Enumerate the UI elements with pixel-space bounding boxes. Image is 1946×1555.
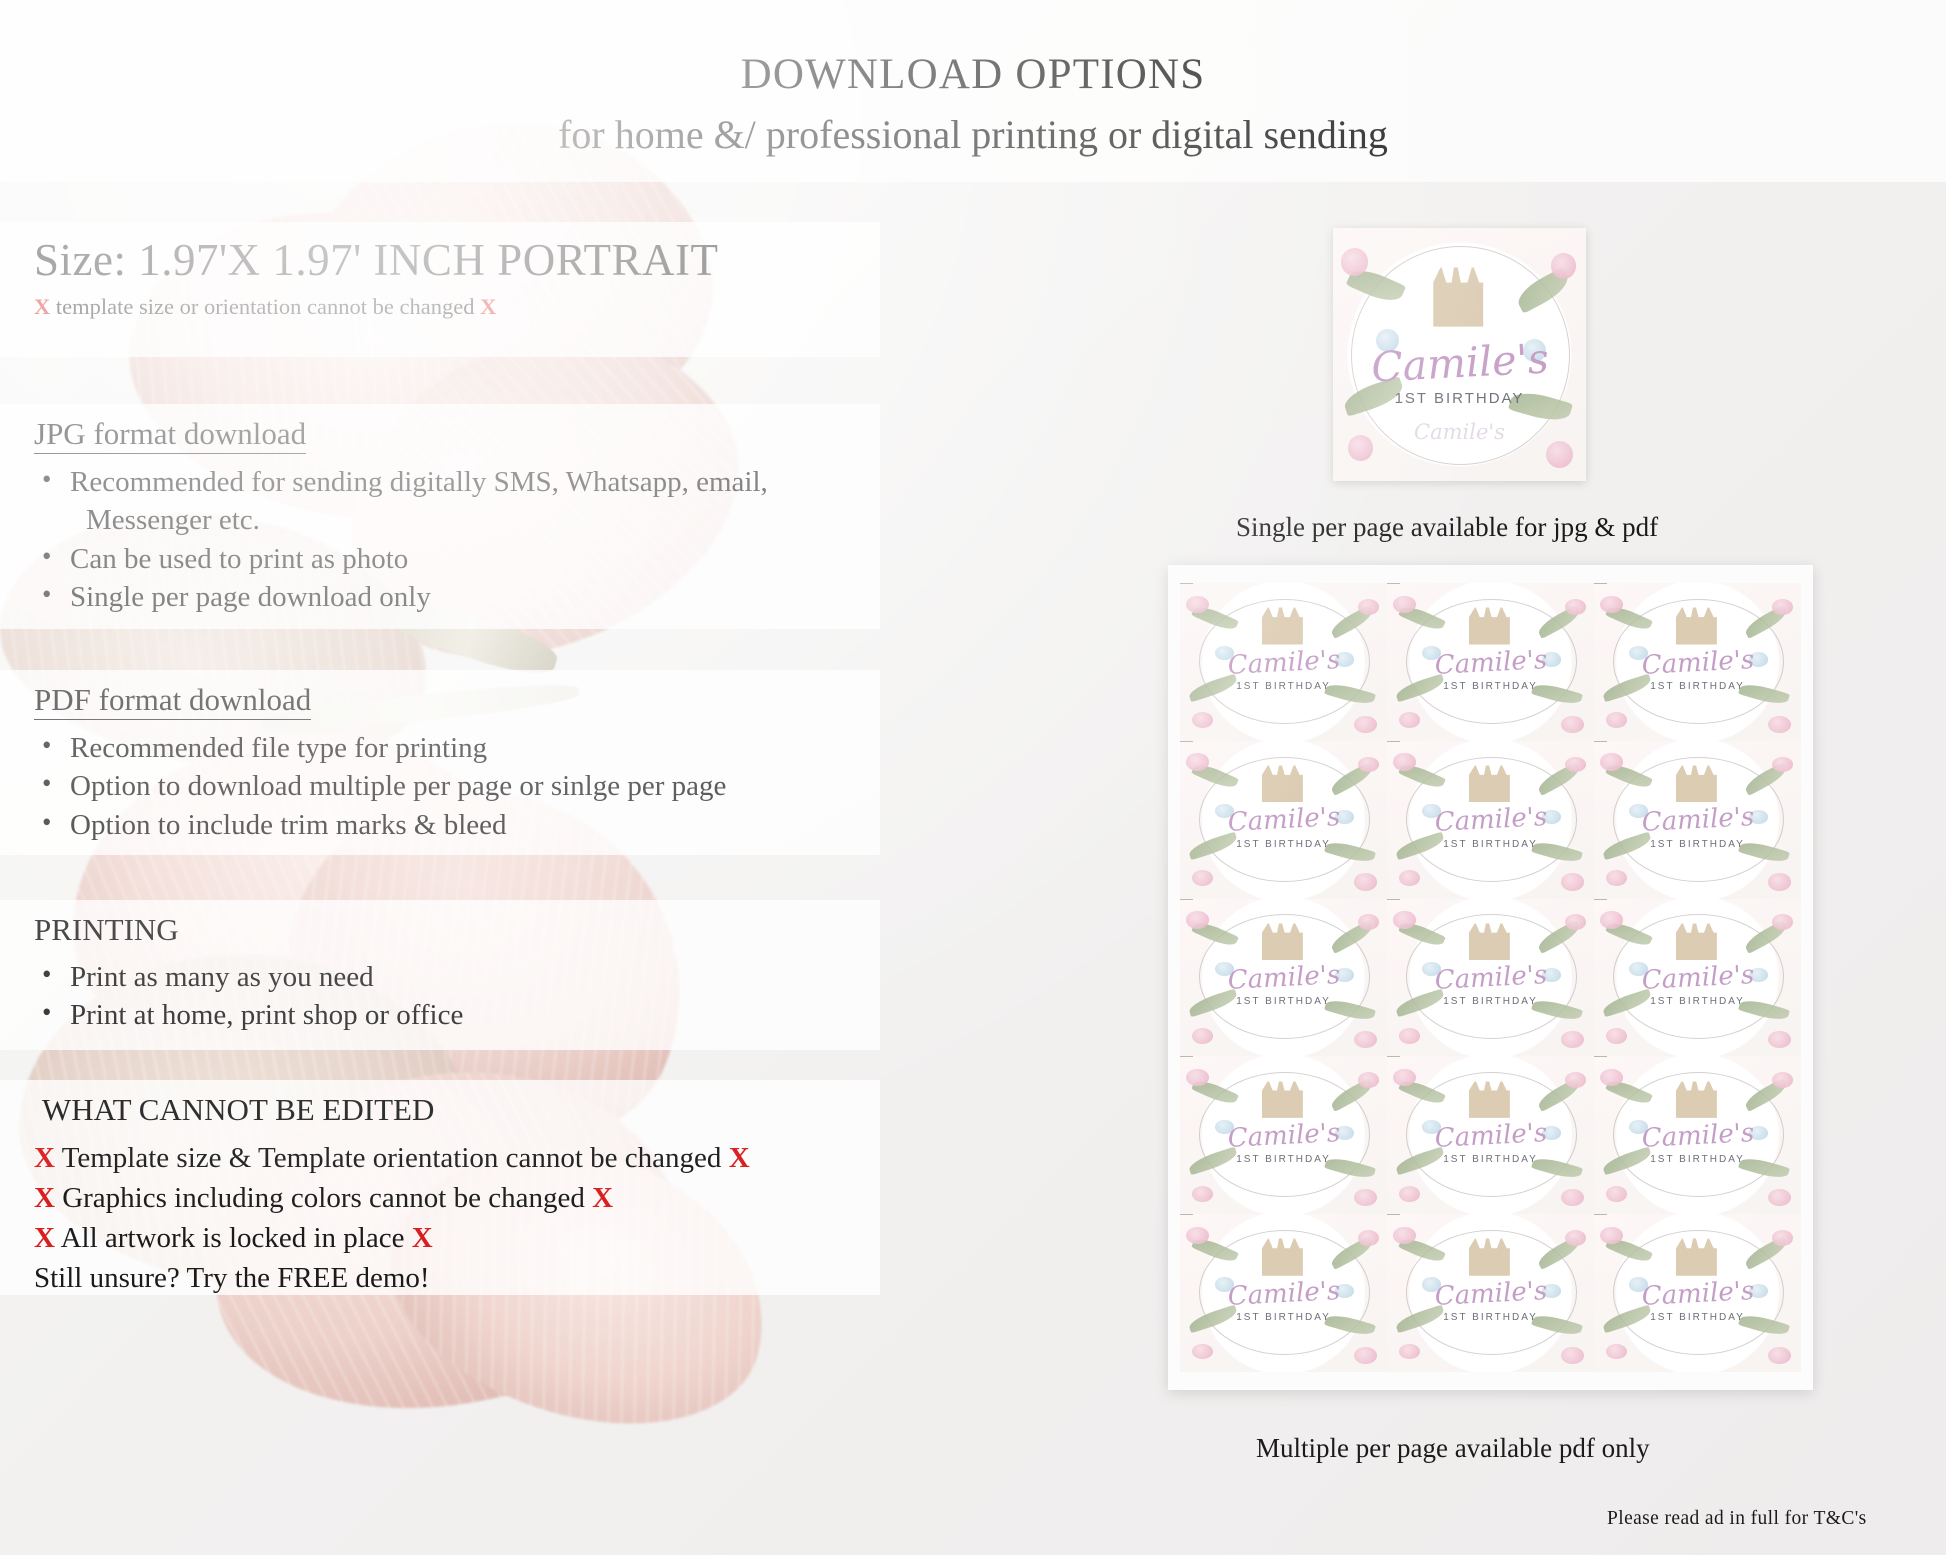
flower-icon [1772,1072,1793,1088]
list-item: Can be used to print as photo [34,540,854,578]
sticker-subtitle: 1ST BIRTHDAY [1650,996,1745,1007]
flower-icon [1565,599,1586,615]
sticker-subtitle: 1ST BIRTHDAY [1650,839,1745,850]
flower-icon [1399,1186,1420,1202]
sticker-name: Camile's [1227,960,1341,996]
page-title: DOWNLOAD OPTIONS [0,0,1946,99]
flower-icon [1192,1344,1213,1360]
sticker-subtitle: 1ST BIRTHDAY [1236,681,1331,692]
flower-icon [1606,1028,1627,1044]
flower-icon [1393,1227,1416,1244]
flower-icon [1600,1227,1623,1244]
sticker-name: Camile's [1641,960,1755,996]
flower-icon [1354,1031,1377,1048]
sticker-name: Camile's [1434,960,1548,996]
flower-icon [1768,1189,1791,1206]
sticker-artwork: Camile's 1ST BIRTHDAY Camile's [1594,583,1801,741]
list-item: Messenger etc. [34,501,854,539]
flower-icon [1561,716,1584,733]
sticker-name-faded: Camile's [1414,420,1505,444]
cannot-edit-section: WHAT CANNOT BE EDITED X Template size & … [0,1080,880,1295]
sticker-artwork: Camile's 1ST BIRTHDAY Camile's [1180,1214,1387,1372]
cannot-edit-line-text: Still unsure? Try the FREE demo! [34,1262,430,1294]
sticker-grid-cell: Camile's 1ST BIRTHDAY Camile's [1594,1214,1801,1372]
sticker-name: Camile's [1434,645,1548,681]
sticker-artwork: Camile's 1ST BIRTHDAY Camile's [1594,1056,1801,1214]
flower-icon [1772,599,1793,615]
cannot-edit-line: X Graphics including colors cannot be ch… [34,1178,854,1218]
sticker-name: Camile's [1227,1276,1341,1312]
sticker-subtitle: 1ST BIRTHDAY [1650,1312,1745,1323]
flower-icon [1186,911,1209,928]
sticker-grid-cell: Camile's 1ST BIRTHDAY Camile's [1180,899,1387,1057]
sticker-name: Camile's [1641,645,1755,681]
flower-icon [1565,757,1586,773]
jpg-section-list: Recommended for sending digitally SMS, W… [34,463,854,616]
flower-icon [1768,1347,1791,1364]
sticker-subtitle: 1ST BIRTHDAY [1443,1154,1538,1165]
cannot-edit-line: Still unsure? Try the FREE demo! [34,1258,854,1298]
x-marker: X [412,1222,433,1254]
printing-section-list: Print as many as you need Print at home,… [34,958,854,1035]
sticker-subtitle: 1ST BIRTHDAY [1236,1154,1331,1165]
flower-icon [1354,873,1377,890]
sticker-grid-cell: Camile's 1ST BIRTHDAY Camile's [1387,1214,1594,1372]
single-per-page-caption: Single per page available for jpg & pdf [1236,512,1658,543]
sticker-artwork: Camile's 1ST BIRTHDAY Camile's [1180,899,1387,1057]
sticker-subtitle: 1ST BIRTHDAY [1443,1312,1538,1323]
flower-icon [1772,757,1793,773]
flower-icon [1565,1072,1586,1088]
flower-icon [1561,1189,1584,1206]
flower-icon [1192,712,1213,728]
sticker-artwork: Camile's 1ST BIRTHDAY Camile's [1180,741,1387,899]
flower-icon [1358,914,1379,930]
flower-icon [1192,1186,1213,1202]
cannot-edit-line-text: All artwork is locked in place [61,1222,405,1254]
sticker-name: Camile's [1641,1276,1755,1312]
sticker-name: Camile's [1227,1118,1341,1154]
sticker-name: Camile's [1370,335,1550,392]
sticker-artwork: Camile's 1ST BIRTHDAY Camile's [1594,899,1801,1057]
size-note-text: template size or orientation cannot be c… [56,294,475,319]
flower-icon [1600,753,1623,770]
printing-section: PRINTING Print as many as you need Print… [0,900,880,1050]
sticker-grid-cell: Camile's 1ST BIRTHDAY Camile's [1387,583,1594,741]
flower-icon [1393,753,1416,770]
flower-icon [1358,599,1379,615]
sticker-name: Camile's [1434,1118,1548,1154]
pdf-section: PDF format download Recommended file typ… [0,670,880,855]
flower-icon [1399,1028,1420,1044]
sticker-grid-cell: Camile's 1ST BIRTHDAY Camile's [1594,583,1801,741]
flower-icon [1606,712,1627,728]
flower-icon [1768,716,1791,733]
sticker-artwork: Camile's 1ST BIRTHDAY Camile's [1387,899,1594,1057]
flower-icon [1768,873,1791,890]
sticker-subtitle: 1ST BIRTHDAY [1650,1154,1745,1165]
sticker-grid-cell: Camile's 1ST BIRTHDAY Camile's [1594,741,1801,899]
flower-icon [1606,1186,1627,1202]
flower-icon [1348,435,1373,460]
list-item: Single per page download only [34,578,854,616]
sticker-subtitle: 1ST BIRTHDAY [1236,839,1331,850]
sticker-subtitle: 1ST BIRTHDAY [1395,390,1525,407]
x-marker: X [34,1222,55,1254]
flower-icon [1772,914,1793,930]
x-marker: X [34,294,50,319]
flower-icon [1399,870,1420,886]
flower-icon [1600,596,1623,613]
sticker-subtitle: 1ST BIRTHDAY [1443,839,1538,850]
size-note: X template size or orientation cannot be… [34,294,854,320]
jpg-section-title: JPG format download [34,416,306,454]
flower-icon [1354,1189,1377,1206]
list-item: Option to download multiple per page or … [34,767,854,805]
sticker-artwork: Camile's 1ST BIRTHDAY Camile's [1387,1056,1594,1214]
list-item: Print at home, print shop or office [34,996,854,1034]
flower-icon [1399,1344,1420,1360]
flower-icon [1565,914,1586,930]
cannot-edit-line-text: Graphics including colors cannot be chan… [62,1182,585,1214]
x-marker: X [34,1182,55,1214]
flower-icon [1358,1230,1379,1246]
x-marker: X [729,1142,750,1174]
list-item: Print as many as you need [34,958,854,996]
sticker-artwork: Camile's 1ST BIRTHDAY Camile's [1180,1056,1387,1214]
sticker-grid: Camile's 1ST BIRTHDAY Camile's Camile's … [1180,583,1801,1372]
single-per-page-preview: Camile's 1ST BIRTHDAY Camile's [1333,228,1586,481]
printing-section-title: PRINTING [34,912,179,949]
multiple-per-page-preview: Camile's 1ST BIRTHDAY Camile's Camile's … [1168,565,1813,1390]
sticker-grid-cell: Camile's 1ST BIRTHDAY Camile's [1594,899,1801,1057]
sticker-subtitle: 1ST BIRTHDAY [1236,1312,1331,1323]
sticker-artwork: Camile's 1ST BIRTHDAY Camile's [1180,583,1387,741]
flower-icon [1186,596,1209,613]
flower-icon [1561,873,1584,890]
flower-icon [1358,757,1379,773]
jpg-section: JPG format download Recommended for send… [0,404,880,629]
flower-icon [1186,1227,1209,1244]
sticker-artwork: Camile's 1ST BIRTHDAY Camile's [1594,1214,1801,1372]
multiple-per-page-caption: Multiple per page available pdf only [1256,1433,1650,1464]
terms-note: Please read ad in full for T&C's [1607,1508,1867,1530]
flower-icon [1354,1347,1377,1364]
cannot-edit-lines: X Template size & Template orientation c… [34,1138,854,1298]
sticker-grid-cell: Camile's 1ST BIRTHDAY Camile's [1180,741,1387,899]
flower-icon [1186,753,1209,770]
sticker-grid-cell: Camile's 1ST BIRTHDAY Camile's [1180,1056,1387,1214]
size-title: Size: 1.97'X 1.97' INCH PORTRAIT [34,234,854,286]
flower-icon [1192,870,1213,886]
sticker-artwork: Camile's 1ST BIRTHDAY Camile's [1387,1214,1594,1372]
page-background: DOWNLOAD OPTIONS for home &/ professiona… [0,0,1946,1555]
flower-icon [1393,596,1416,613]
flower-icon [1358,1072,1379,1088]
sticker-grid-cell: Camile's 1ST BIRTHDAY Camile's [1180,1214,1387,1372]
flower-icon [1772,1230,1793,1246]
cannot-edit-line: X Template size & Template orientation c… [34,1138,854,1178]
x-marker: X [592,1182,613,1214]
cannot-edit-title: WHAT CANNOT BE EDITED [34,1092,434,1129]
x-marker: X [480,294,496,319]
flower-icon [1768,1031,1791,1048]
size-panel: Size: 1.97'X 1.97' INCH PORTRAIT X templ… [0,222,880,357]
flower-icon [1606,870,1627,886]
x-marker: X [34,1142,55,1174]
flower-icon [1354,716,1377,733]
flower-icon [1600,911,1623,928]
sticker-subtitle: 1ST BIRTHDAY [1443,996,1538,1007]
flower-icon [1551,253,1576,278]
list-item: Recommended file type for printing [34,729,854,767]
flower-icon [1561,1031,1584,1048]
list-item: Option to include trim marks & bleed [34,806,854,844]
flower-icon [1393,911,1416,928]
sticker-subtitle: 1ST BIRTHDAY [1650,681,1745,692]
sticker-name: Camile's [1641,1118,1755,1154]
sticker-artwork: Camile's 1ST BIRTHDAY Camile's [1387,583,1594,741]
sticker-name: Camile's [1227,645,1341,681]
sticker-artwork: Camile's 1ST BIRTHDAY Camile's [1387,741,1594,899]
sticker-grid-cell: Camile's 1ST BIRTHDAY Camile's [1594,1056,1801,1214]
flower-icon [1606,1344,1627,1360]
page-subtitle: for home &/ professional printing or dig… [0,99,1946,158]
flower-icon [1561,1347,1584,1364]
flower-icon [1399,712,1420,728]
sticker-artwork: Camile's 1ST BIRTHDAY Camile's [1333,228,1586,481]
sticker-grid-cell: Camile's 1ST BIRTHDAY Camile's [1180,583,1387,741]
sticker-grid-cell: Camile's 1ST BIRTHDAY Camile's [1387,741,1594,899]
sticker-grid-cell: Camile's 1ST BIRTHDAY Camile's [1387,899,1594,1057]
cannot-edit-line: X All artwork is locked in place X [34,1218,854,1258]
header-banner: DOWNLOAD OPTIONS for home &/ professiona… [0,0,1946,182]
flower-icon [1192,1028,1213,1044]
sticker-artwork: Camile's 1ST BIRTHDAY Camile's [1594,741,1801,899]
sticker-subtitle: 1ST BIRTHDAY [1236,996,1331,1007]
cannot-edit-line-text: Template size & Template orientation can… [62,1142,722,1174]
sticker-grid-cell: Camile's 1ST BIRTHDAY Camile's [1387,1056,1594,1214]
sticker-subtitle: 1ST BIRTHDAY [1443,681,1538,692]
flower-icon [1546,441,1574,469]
list-item: Recommended for sending digitally SMS, W… [34,463,854,501]
sticker-name: Camile's [1434,1276,1548,1312]
flower-icon [1565,1230,1586,1246]
pdf-section-title: PDF format download [34,682,311,720]
pdf-section-list: Recommended file type for printing Optio… [34,729,854,844]
